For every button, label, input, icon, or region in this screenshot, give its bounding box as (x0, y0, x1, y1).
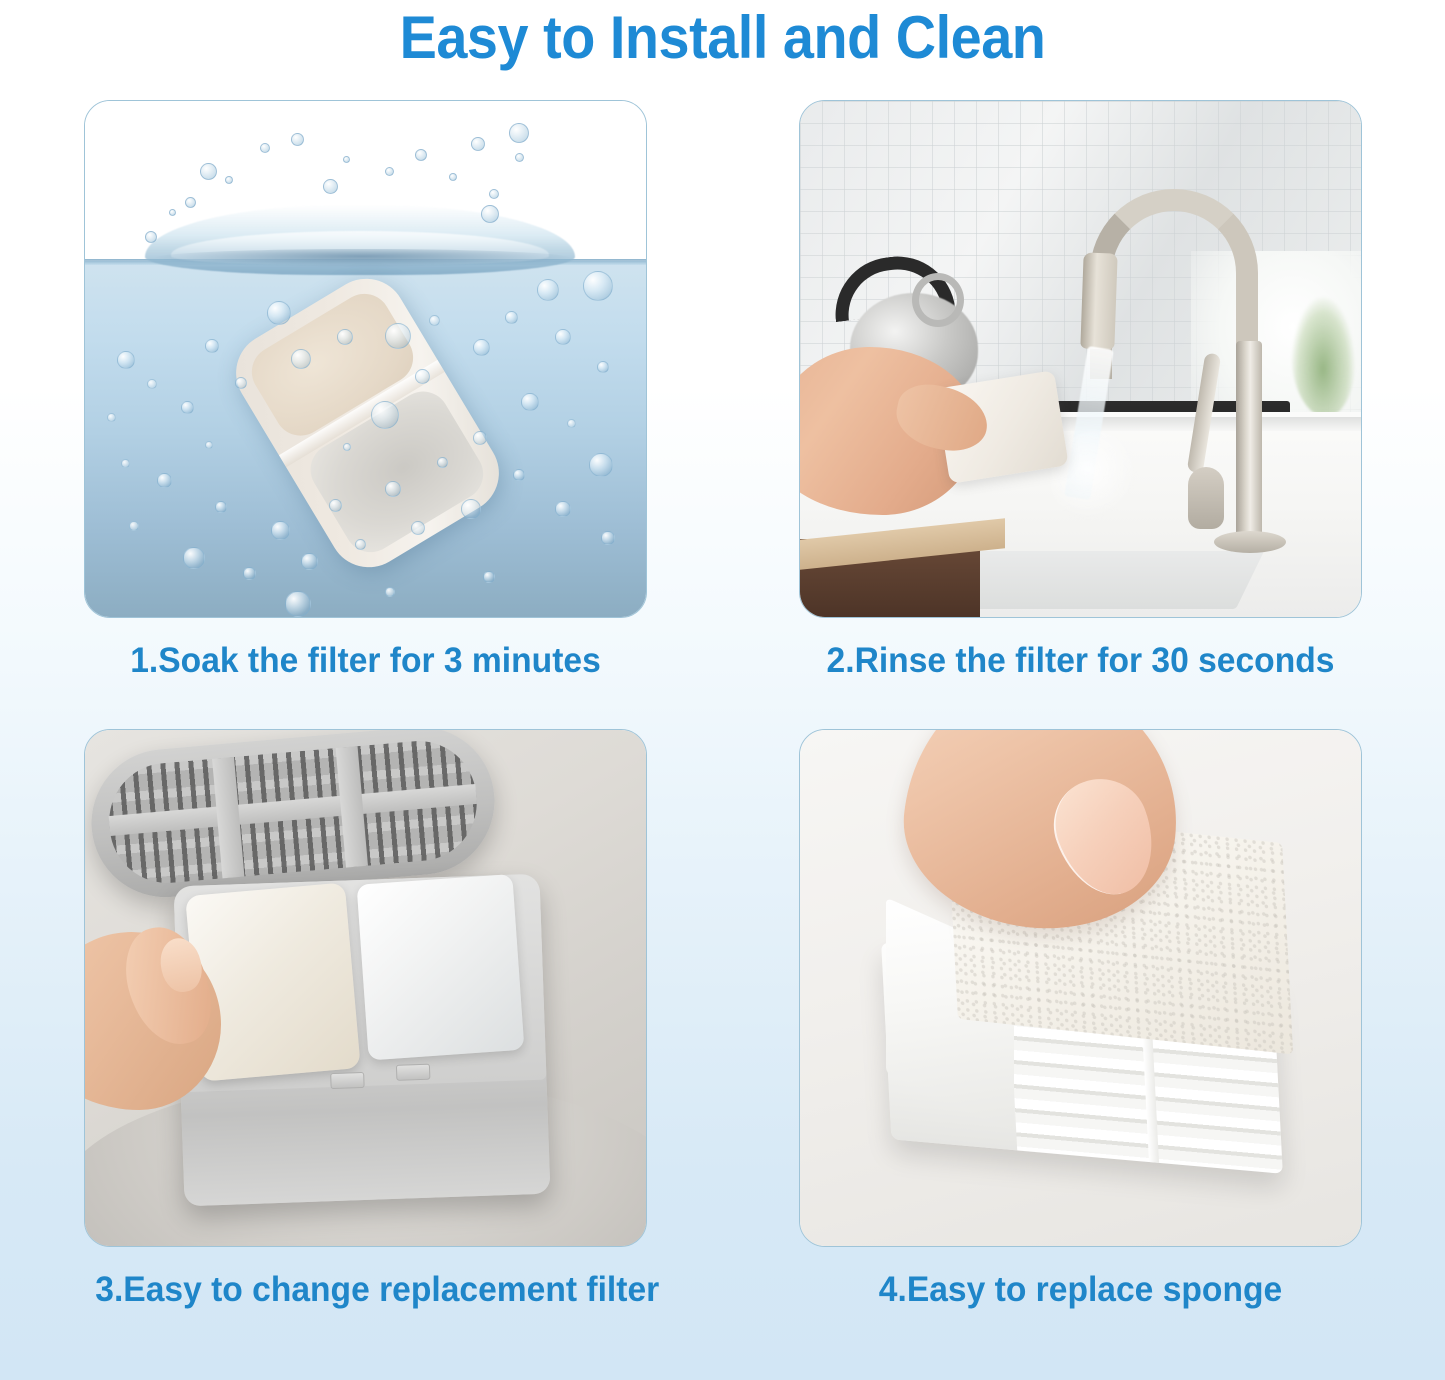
bubble (473, 339, 490, 356)
bubble (301, 553, 318, 570)
water-scene (85, 101, 646, 617)
bubble (181, 401, 194, 414)
step-cell-3: 3.Easy to change replacement filter (84, 729, 647, 1310)
spray-droplet (200, 163, 217, 180)
bubble (285, 591, 311, 617)
bubble (583, 271, 613, 301)
page-title: Easy to Install and Clean (51, 0, 1395, 72)
bubble (597, 361, 609, 373)
bubble (461, 499, 481, 519)
step-cell-4: 4.Easy to replace sponge (799, 729, 1362, 1310)
spray-droplet (515, 153, 524, 162)
spray-droplet (323, 179, 338, 194)
step-caption-3: 3.Easy to change replacement filter (95, 1271, 635, 1310)
bubble (473, 431, 487, 445)
housing-latch-tab (330, 1071, 365, 1088)
spray-droplet (291, 133, 304, 146)
step-caption-1: 1.Soak the filter for 3 minutes (95, 642, 635, 681)
spray-droplet (471, 137, 485, 151)
bubble (107, 413, 116, 422)
housing-lip (173, 873, 546, 1092)
kitchen-scene (800, 101, 1361, 617)
step-caption-2: 2.Rinse the filter for 30 seconds (810, 642, 1350, 681)
bubble (129, 521, 139, 531)
bubble (291, 349, 311, 369)
spray-droplet (343, 156, 350, 163)
splash-ridge (155, 249, 570, 267)
spray-droplet (145, 231, 157, 243)
bubble (555, 501, 571, 517)
spray-droplet (509, 123, 529, 143)
spray-droplet (489, 189, 499, 199)
bubble (205, 339, 219, 353)
bubble (505, 311, 518, 324)
kettle-ring (912, 273, 964, 327)
bubble (329, 499, 342, 512)
faucet-handle-knob (1188, 467, 1224, 529)
steps-grid: 1.Soak the filter for 3 minutes (0, 100, 1445, 1309)
bubble (589, 453, 613, 477)
bubble (337, 329, 353, 345)
bubble (371, 401, 399, 429)
bubble (183, 547, 205, 569)
bubble (271, 521, 290, 540)
bubble (355, 539, 366, 550)
bubble (555, 329, 571, 345)
bubble (513, 469, 525, 481)
step-image-4 (799, 729, 1362, 1247)
bubble (483, 571, 495, 583)
spray-droplet (385, 167, 394, 176)
bubble (147, 379, 157, 389)
spray-droplet (481, 205, 499, 223)
spray-droplet (225, 176, 233, 184)
bubble (411, 521, 425, 535)
faucet-base (1214, 531, 1286, 553)
bubble (235, 377, 247, 389)
bubble (117, 351, 135, 369)
bubble (157, 473, 172, 488)
bubble (537, 279, 559, 301)
bubble (385, 323, 411, 349)
bubble (385, 481, 401, 497)
spray-droplet (185, 197, 196, 208)
sponge-scene (800, 730, 1361, 1246)
spray-droplet (169, 209, 176, 216)
filter-housing-base (173, 873, 550, 1206)
step-image-3 (84, 729, 647, 1247)
spray-droplet (449, 173, 457, 181)
bubble (567, 419, 576, 428)
step-image-2 (799, 100, 1362, 618)
housing-latch-tab (395, 1063, 430, 1080)
bubble (415, 369, 430, 384)
spray-droplet (260, 143, 270, 153)
bubble (601, 531, 615, 545)
filter-pad-right (356, 873, 524, 1059)
faucet-body (1236, 341, 1262, 546)
faucet-sprayer-head (1080, 252, 1117, 349)
bubble (385, 587, 395, 597)
filter-housing-scene (85, 730, 646, 1246)
bubble (267, 301, 291, 325)
step-image-1 (84, 100, 647, 618)
step-caption-4: 4.Easy to replace sponge (810, 1271, 1350, 1310)
bubble (521, 393, 539, 411)
bubble (215, 501, 227, 513)
step-cell-2: 2.Rinse the filter for 30 seconds (799, 100, 1362, 681)
bubble (437, 457, 448, 468)
step-cell-1: 1.Soak the filter for 3 minutes (84, 100, 647, 681)
bubble (343, 443, 351, 451)
bubble (121, 459, 130, 468)
spray-droplet (415, 149, 427, 161)
bubble (243, 567, 256, 580)
steps-row-top: 1.Soak the filter for 3 minutes (0, 100, 1445, 681)
steps-row-bottom: 3.Easy to change replacement filter 4.Ea… (0, 729, 1445, 1310)
bubble (429, 315, 440, 326)
bubble (205, 441, 213, 449)
